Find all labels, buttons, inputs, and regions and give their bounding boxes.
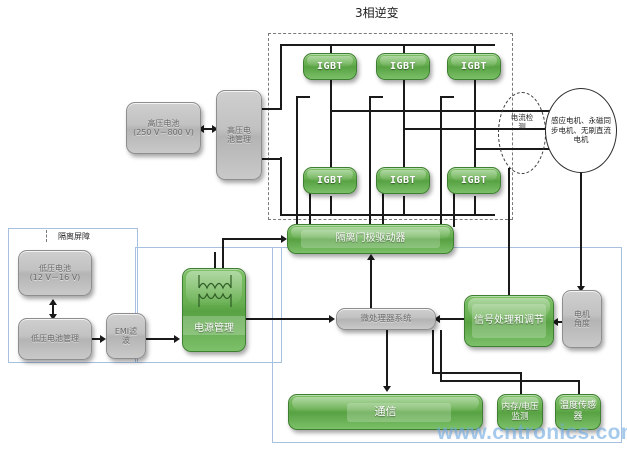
- emi-filter-label: EMI滤波: [107, 327, 145, 346]
- transformer-coil-icon: [183, 269, 247, 311]
- gate-driver-label: 隔离门极驱动器: [288, 233, 453, 245]
- signal-processing-label: 信号处理和调节: [465, 315, 553, 327]
- lv-battery-mgmt-label: 低压电池管理: [19, 334, 91, 343]
- igbt-label: IGBT: [448, 175, 500, 187]
- hv-battery-block[interactable]: 高压电池 (250 V－800 V): [126, 102, 201, 154]
- igbt-label: IGBT: [377, 175, 429, 187]
- hv-battery-mgmt-block[interactable]: 高压电池管理: [216, 90, 262, 180]
- lv-battery-line1: 低压电池: [39, 264, 71, 273]
- wire-dcminus: [262, 158, 282, 160]
- igbt-block-bottom-1[interactable]: IGBT: [303, 167, 357, 194]
- gate-driver-block[interactable]: 隔离门极驱动器: [287, 224, 454, 254]
- wire-pm-to-gd-v: [222, 238, 224, 272]
- hv-battery-line1: 高压电池: [148, 119, 180, 128]
- wire-gate-uh-stub: [296, 96, 310, 98]
- arrow-mcu-to-comm: [383, 386, 391, 392]
- arrow-lvbat-up: [49, 299, 57, 305]
- signal-processing-block[interactable]: 信号处理和调节: [464, 295, 554, 347]
- wire-bottom-busbar: [280, 214, 495, 216]
- hv-battery-mgmt-label: 高压电池管理: [217, 126, 261, 145]
- arrow-mcu-to-gd: [367, 254, 375, 260]
- lv-battery-label: 低压电池 (12 V－16 V): [19, 264, 91, 283]
- communication-label: 通信: [289, 406, 482, 419]
- wire-mcu-right-1: [432, 330, 434, 372]
- igbt-label: IGBT: [448, 61, 500, 73]
- wire-mem-branch: [432, 372, 522, 374]
- igbt-block-bottom-2[interactable]: IGBT: [376, 167, 430, 194]
- arrow-emi-pm: [174, 335, 180, 343]
- wire-bot-riser-1: [330, 196, 332, 214]
- igbt-label: IGBT: [304, 61, 356, 73]
- wire-bot-riser-3: [474, 196, 476, 214]
- igbt-block-top-3[interactable]: IGBT: [447, 53, 501, 80]
- wire-gate-vh: [369, 96, 371, 227]
- watermark: www.cntronics.com: [437, 421, 627, 445]
- wire-bot-riser-2: [403, 196, 405, 214]
- igbt-block-top-1[interactable]: IGBT: [303, 53, 357, 80]
- wire-gate-wh: [440, 96, 442, 227]
- wire-gate-wh-stub: [440, 96, 454, 98]
- lv-battery-line2: (12 V－16 V): [30, 273, 81, 282]
- wire-motor-to-angle: [580, 172, 582, 290]
- arrow-pm-to-mcu: [329, 315, 335, 323]
- lv-battery-block[interactable]: 低压电池 (12 V－16 V): [18, 250, 92, 296]
- power-management-block[interactable]: 电源管理: [182, 268, 246, 352]
- hv-battery-line2: (250 V－800 V): [133, 128, 194, 137]
- current-sense-ellipse: [498, 92, 546, 174]
- wire-gate-vh-stub: [369, 96, 383, 98]
- wire-pm-top-stub: [214, 252, 216, 268]
- emi-filter-block[interactable]: EMI滤波: [106, 313, 146, 359]
- hv-battery-label: 高压电池 (250 V－800 V): [127, 119, 200, 138]
- motor-angle-block[interactable]: 电机角度: [562, 290, 602, 348]
- igbt-label: IGBT: [377, 61, 429, 73]
- motor-types-label: 感应电机、永磁同步电机、无刷直流电机: [550, 116, 612, 144]
- mcu-system-block[interactable]: 微处理器系统: [336, 308, 436, 330]
- wire-dcminus-riser: [280, 157, 282, 215]
- wire-gate-uh: [296, 96, 298, 227]
- current-sense-label: 电流检测: [508, 113, 536, 131]
- temp-sensor-label: 温度传感器: [556, 401, 600, 422]
- diagram-title: 3相逆变: [355, 4, 399, 21]
- wire-dcplus: [262, 108, 282, 110]
- diagram-canvas: 3相逆变 隔离屏障 IGBT: [0, 0, 627, 451]
- motor-circle[interactable]: 感应电机、永磁同步电机、无刷直流电机: [545, 88, 617, 173]
- memory-voltage-label: 内存/电压监测: [498, 402, 542, 422]
- wire-mcu-to-gd: [370, 258, 372, 310]
- wire-dcplus-riser: [280, 44, 282, 110]
- wire-mem-drop: [520, 372, 522, 394]
- isolation-barrier-label: 隔离屏障: [58, 231, 90, 242]
- mcu-system-label: 微处理器系统: [337, 314, 435, 324]
- igbt-block-top-2[interactable]: IGBT: [376, 53, 430, 80]
- wire-temp-drop: [578, 380, 580, 394]
- lv-battery-mgmt-block[interactable]: 低压电池管理: [18, 318, 92, 360]
- power-management-label: 电源管理: [183, 323, 245, 335]
- wire-top-busbar: [280, 44, 495, 46]
- igbt-label: IGBT: [304, 175, 356, 187]
- motor-angle-label: 电机角度: [563, 310, 601, 329]
- isolation-barrier-tick: [46, 230, 47, 242]
- wire-pm-to-gd-h: [222, 238, 284, 240]
- wire-mcu-to-comm: [386, 330, 388, 390]
- wire-sense-to-sp: [508, 168, 510, 296]
- igbt-block-bottom-3[interactable]: IGBT: [447, 167, 501, 194]
- wire-pm-to-mcu: [246, 318, 332, 320]
- wire-temp-branch: [440, 380, 580, 382]
- wire-phase-leg-u: [330, 80, 332, 178]
- wire-sp-to-mcu: [436, 318, 464, 320]
